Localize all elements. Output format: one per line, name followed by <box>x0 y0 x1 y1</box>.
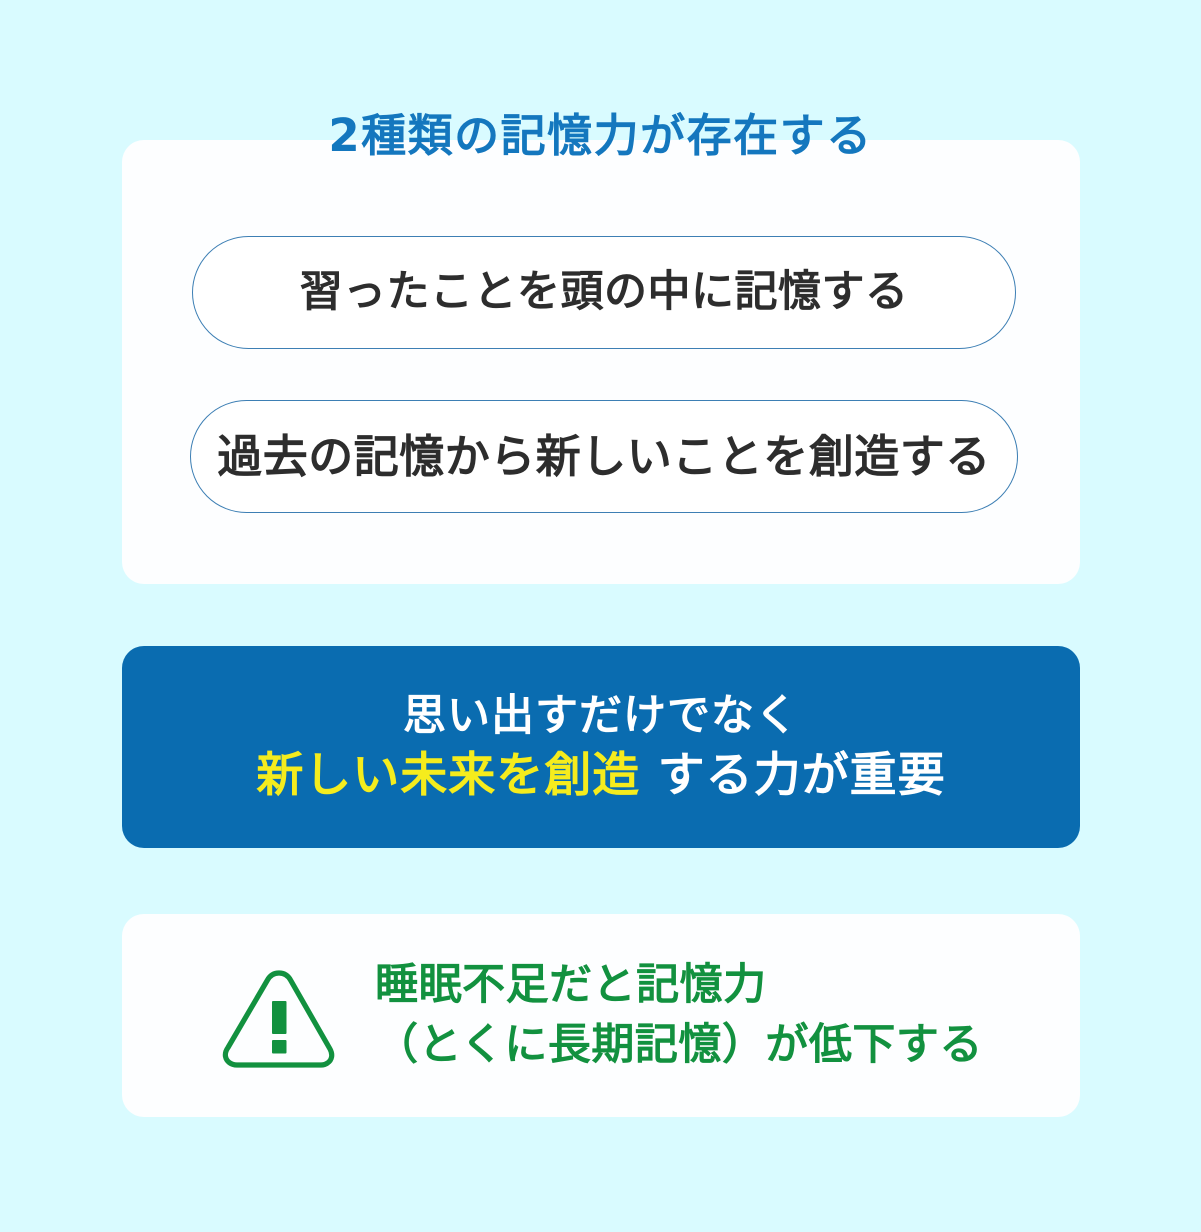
sleep-warning-line-1: 睡眠不足だと記憶力 <box>375 963 983 1008</box>
banner-highlight-text: 新しい未来を創造 <box>256 748 640 803</box>
memory-type-pill-1[interactable]: 習ったことを頭の中に記憶する <box>192 236 1016 349</box>
memory-types-card <box>122 140 1080 584</box>
sleep-warning-card: 睡眠不足だと記憶力 （とくに長期記憶）が低下する <box>122 914 1080 1117</box>
page-title: 2種類の記憶力が存在する <box>0 113 1201 158</box>
infographic-page: 2種類の記憶力が存在する 習ったことを頭の中に記憶する 過去の記憶から新しいこと… <box>0 0 1201 1232</box>
banner-line-2: 新しい未来を創造 する力が重要 <box>256 752 945 799</box>
sleep-warning-text: 睡眠不足だと記憶力 （とくに長期記憶）が低下する <box>375 963 983 1067</box>
banner-line-1: 思い出すだけでなく <box>403 695 799 738</box>
banner-rest-text: する力が重要 <box>640 748 945 803</box>
memory-type-pill-2[interactable]: 過去の記憶から新しいことを創造する <box>190 400 1018 513</box>
sleep-warning-line-2: （とくに長期記憶）が低下する <box>375 1023 983 1068</box>
memory-type-pill-2-label: 過去の記憶から新しいことを創造する <box>217 434 991 479</box>
warning-triangle-exclamation-icon <box>219 964 339 1068</box>
key-message-banner: 思い出すだけでなく 新しい未来を創造 する力が重要 <box>122 646 1080 848</box>
memory-type-pill-1-label: 習ったことを頭の中に記憶する <box>300 271 909 314</box>
